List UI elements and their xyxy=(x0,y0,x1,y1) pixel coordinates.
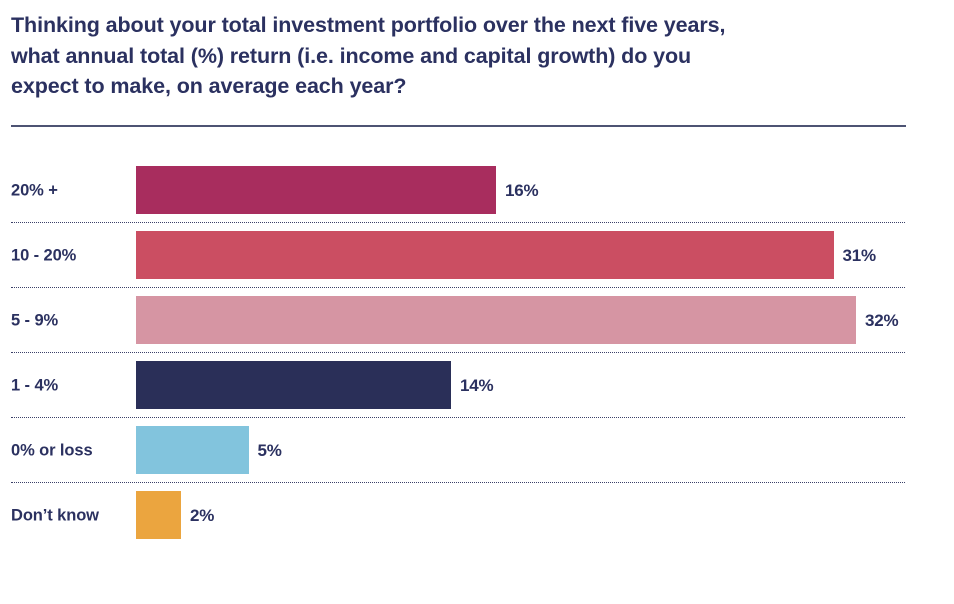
bar-row: 5 - 9%32% xyxy=(0,288,954,353)
bar-row: 10 - 20%31% xyxy=(0,223,954,288)
bar-value-label: 31% xyxy=(843,246,876,266)
bar-value-label: 32% xyxy=(865,311,898,331)
bar-value-label: 5% xyxy=(258,441,282,461)
category-label: Don’t know xyxy=(11,506,99,525)
bar-value-label: 2% xyxy=(190,506,214,526)
bar-row: 1 - 4%14% xyxy=(0,353,954,418)
bar xyxy=(136,231,834,279)
bar xyxy=(136,361,451,409)
bar-row: Don’t know2% xyxy=(0,483,954,548)
category-label: 0% or loss xyxy=(11,441,93,460)
bar-row: 0% or loss5% xyxy=(0,418,954,483)
chart-page: Thinking about your total investment por… xyxy=(0,0,954,604)
bar-value-label: 14% xyxy=(460,376,493,396)
bar-value-label: 16% xyxy=(505,181,538,201)
bar xyxy=(136,296,856,344)
bar xyxy=(136,491,181,539)
bar-chart-plot-area: 20% +16%10 - 20%31%5 - 9%32%1 - 4%14%0% … xyxy=(0,0,954,604)
category-label: 10 - 20% xyxy=(11,246,76,265)
category-label: 20% + xyxy=(11,181,58,200)
bar xyxy=(136,166,496,214)
category-label: 1 - 4% xyxy=(11,376,58,395)
bar xyxy=(136,426,249,474)
bar-row: 20% +16% xyxy=(0,158,954,223)
category-label: 5 - 9% xyxy=(11,311,58,330)
